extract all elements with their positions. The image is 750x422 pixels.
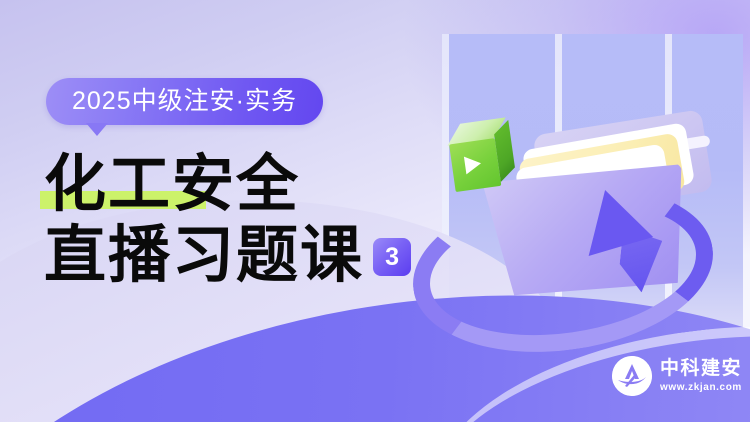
title-line-2-row: 直播习题课 3 (44, 223, 464, 286)
episode-number-badge: 3 (373, 238, 411, 276)
course-category-badge: 2025中级注安·实务 (46, 78, 323, 125)
logo-text-block: 中科建安 www.zkjan.com (660, 359, 742, 393)
badge-tail-icon (86, 123, 108, 136)
brand-logo: 中科建安 www.zkjan.com (612, 356, 742, 396)
play-triangle-icon (464, 154, 482, 174)
logo-website-url: www.zkjan.com (660, 383, 742, 393)
badge-pill: 2025中级注安·实务 (46, 78, 323, 125)
zkjan-logo-mark-icon (612, 356, 652, 396)
title-line-1: 化工安全 (44, 152, 300, 215)
badge-label: 2025中级注安·实务 (72, 89, 297, 114)
title-line-1-row: 化工安全 (44, 152, 464, 215)
title-line-2: 直播习题课 (44, 223, 364, 286)
page-title: 化工安全 直播习题课 3 (44, 152, 464, 286)
course-banner-poster: 2025中级注安·实务 化工安全 直播习题课 3 中科建安 www.zkjan.… (0, 0, 750, 422)
course-illustration (430, 110, 730, 340)
logo-brand-name: 中科建安 (660, 359, 742, 378)
